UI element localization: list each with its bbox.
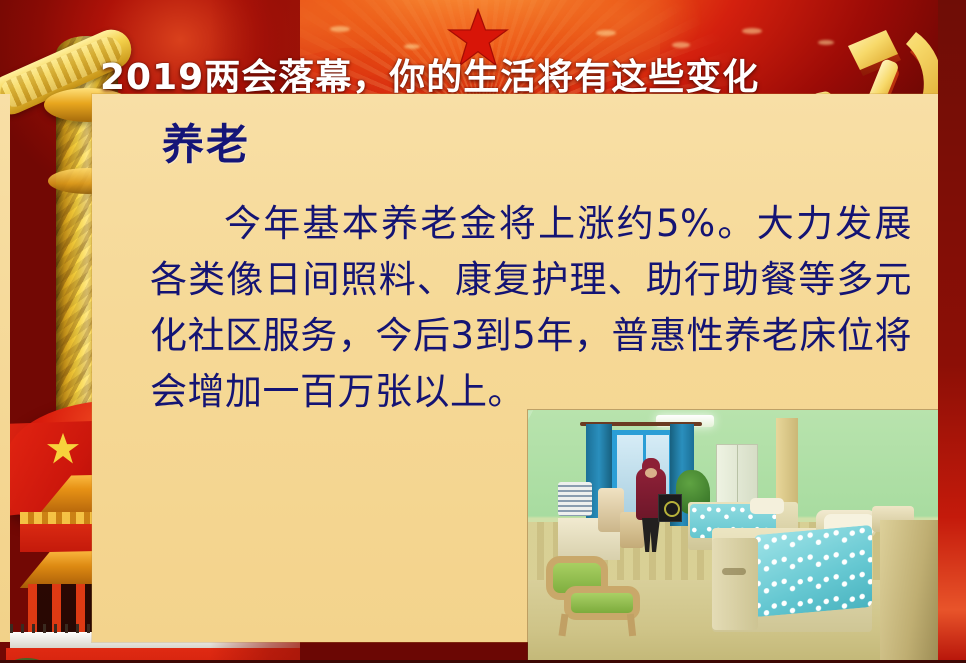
photo-quilt-near: [754, 525, 872, 617]
right-red-margin: [938, 0, 966, 663]
photo-pillow-far: [750, 498, 784, 514]
background-speck: [330, 26, 350, 32]
photo-right-cabinet: [880, 520, 938, 662]
background-speck: [596, 30, 616, 36]
section-heading: 养老: [162, 124, 250, 166]
photo-handbag: [658, 494, 682, 522]
body-paragraph: 今年基本养老金将上涨约5%。大力发展各类像日间照料、康复护理、助行助餐等多元化社…: [150, 196, 912, 420]
photo-striped-chair: [558, 482, 592, 516]
photo-footboard-near: [712, 538, 758, 630]
flag-gold-star-icon: [46, 432, 80, 465]
photo-armchair-leg: [559, 614, 569, 637]
slide-title: 2019两会落幕，你的生活将有这些变化: [100, 48, 820, 96]
panel-left-edge-strip: [0, 94, 10, 642]
care-home-photo: [528, 410, 938, 662]
photo-green-armchair: [536, 556, 652, 634]
slide-canvas: 中华人民共和国万岁 世界人民大团结万岁: [0, 0, 966, 663]
background-speck: [742, 28, 762, 34]
photo-person-face: [645, 468, 657, 478]
